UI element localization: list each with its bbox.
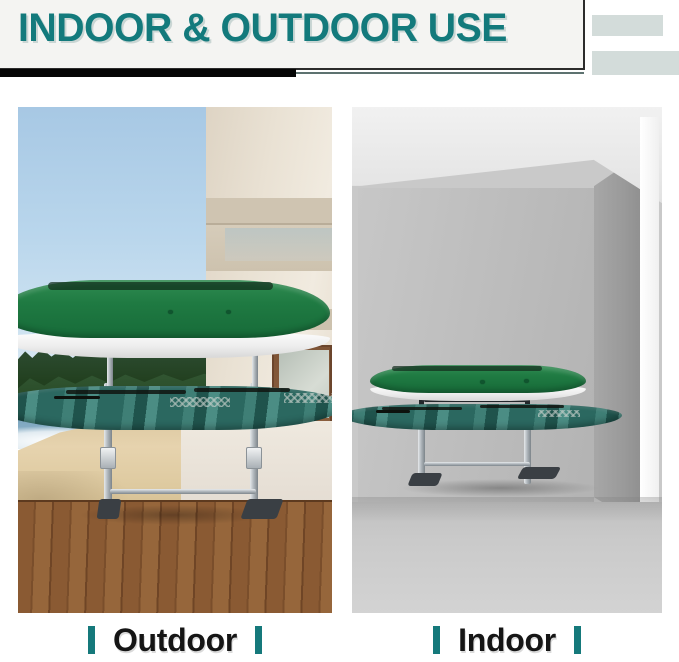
caption-indoor: Indoor bbox=[352, 618, 662, 662]
kayak-lower-handle-indoor bbox=[376, 410, 410, 413]
rack-cross-brace bbox=[110, 489, 256, 494]
room-edge-highlight bbox=[640, 117, 659, 542]
house-balcony-glass bbox=[225, 228, 332, 261]
caption-tick-right-icon bbox=[255, 626, 262, 654]
house-soffit bbox=[206, 198, 332, 223]
kayak-upper-port-b-indoor bbox=[524, 379, 529, 383]
kayak-lower-strap-left bbox=[66, 390, 186, 394]
caption-outdoor: Outdoor bbox=[18, 618, 332, 662]
header-band: INDOOR & OUTDOOR USE bbox=[0, 0, 679, 92]
rack-clamp-left bbox=[100, 447, 116, 469]
room-right-wall bbox=[594, 153, 644, 527]
kayak-lower-strap-right bbox=[194, 388, 290, 392]
outdoor-scene bbox=[18, 107, 332, 613]
caption-tick-left-icon bbox=[88, 626, 95, 654]
caption-tick-right-icon bbox=[574, 626, 581, 654]
kayak-upper-port-b bbox=[226, 310, 231, 314]
room-floor-wall-junction bbox=[352, 497, 662, 522]
rack-foot-left bbox=[97, 499, 122, 519]
kayak-upper-cockpit-rim bbox=[48, 282, 273, 290]
header-rule-thick bbox=[0, 69, 296, 77]
caption-outdoor-label: Outdoor bbox=[113, 622, 237, 659]
rack-foot-right bbox=[240, 499, 283, 519]
panel-outdoor-photo bbox=[18, 107, 332, 613]
caption-tick-left-icon bbox=[433, 626, 440, 654]
kayak-lower-deck-net bbox=[170, 397, 230, 407]
deck-edge bbox=[18, 500, 332, 502]
panel-indoor-photo bbox=[352, 107, 662, 613]
indoor-scene bbox=[352, 107, 662, 613]
kayak-upper-port-a bbox=[168, 310, 173, 314]
header-decorative-block-top bbox=[592, 15, 663, 36]
header-panel: INDOOR & OUTDOOR USE bbox=[0, 0, 585, 70]
kayak-lower-deck-net-indoor bbox=[538, 410, 580, 417]
caption-indoor-label: Indoor bbox=[458, 622, 556, 659]
header-decorative-block-bottom bbox=[592, 51, 679, 75]
rack-foot-right-indoor bbox=[517, 467, 561, 479]
kayak-lower-deck-net-stern bbox=[284, 393, 332, 403]
kayak-upper-cockpit-rim-indoor bbox=[392, 366, 542, 371]
kayak-lower-strap-right-indoor bbox=[480, 405, 564, 408]
caption-row: Outdoor Indoor bbox=[0, 618, 679, 662]
kayak-upper-port-a-indoor bbox=[480, 380, 485, 384]
header-rule-thin bbox=[296, 72, 584, 74]
rack-clamp-right bbox=[246, 447, 262, 469]
rack-foot-left-indoor bbox=[407, 473, 442, 486]
page-title: INDOOR & OUTDOOR USE bbox=[18, 5, 507, 51]
kayak-lower-handle bbox=[54, 396, 100, 399]
rack-cross-brace-indoor bbox=[424, 462, 530, 466]
